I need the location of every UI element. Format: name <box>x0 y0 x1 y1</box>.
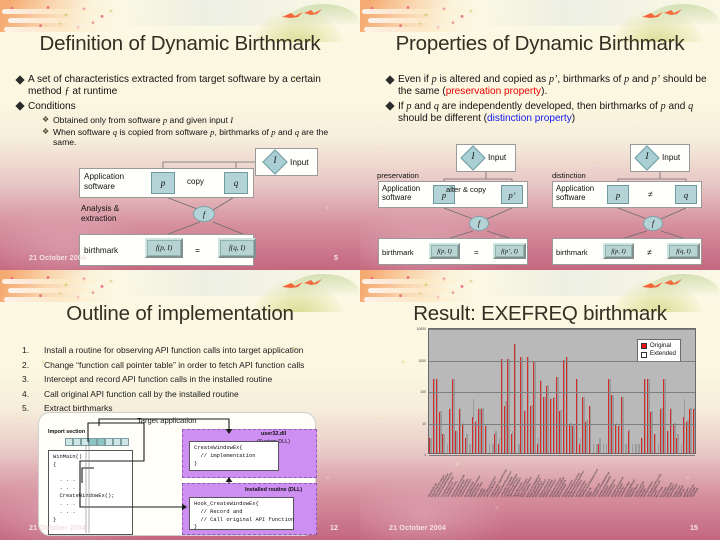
bar-extended <box>694 408 696 453</box>
chart-plot-area: Original Extended 110100100010000 <box>428 328 696 454</box>
footer-date: 21 October 2004 <box>29 253 86 262</box>
list-item: 4. Call original API function call by th… <box>22 390 348 399</box>
birthmark-label: birthmark <box>84 246 118 255</box>
legend-entry-original: Original <box>641 342 676 350</box>
application-software-label: Applicationsoftware <box>84 172 124 192</box>
api-hook-architecture-diagram: Target application Import section WinMai… <box>38 412 316 536</box>
numbered-step-list: 1. Install a routine for observing API f… <box>22 346 348 419</box>
relation-symbol: = <box>195 245 200 255</box>
f-node: f <box>469 216 489 231</box>
application-software-label: Applicationsoftware <box>556 184 594 203</box>
footer-page-number: 12 <box>330 523 338 532</box>
diagram-wires <box>540 0 720 270</box>
birthmark-left: f(p, I) <box>429 243 460 259</box>
diagram-wires <box>0 0 360 270</box>
bar-group <box>692 329 695 453</box>
node-p: p <box>607 185 629 204</box>
slide-properties-of-dynamic-birthmark: Properties of Dynamic Birthmark Even if … <box>360 0 720 270</box>
birthmark-label: birthmark <box>382 248 414 257</box>
page-title: Result: EXEFREQ birthmark <box>360 302 720 326</box>
legend-swatch-extended <box>641 352 647 358</box>
application-software-label: Applicationsoftware <box>382 184 420 203</box>
step-number: 5. <box>22 404 44 413</box>
node-q: q <box>675 185 697 204</box>
slide-definition-of-dynamic-birthmark: Definition of Dynamic Birthmark A set of… <box>0 0 360 270</box>
exefreq-bar-chart: Original Extended 110100100010000 ADVAPI… <box>380 328 708 473</box>
legend-label-extended: Extended <box>650 350 676 358</box>
chart-gridline: 10000 <box>429 329 695 330</box>
footer-page-number: 5 <box>334 253 338 262</box>
slide-outline-of-implementation: Outline of implementation 1. Install a r… <box>0 270 360 540</box>
relation-symbol: ≠ <box>647 247 652 257</box>
step-number: 2. <box>22 361 44 370</box>
chart-y-tick-label: 1000 <box>418 359 426 363</box>
birthmark-label: birthmark <box>556 248 588 257</box>
f-node: f <box>193 206 215 222</box>
chart-legend: Original Extended <box>637 339 681 362</box>
step-number: 3. <box>22 375 44 384</box>
slide-result-exefreq-birthmark: Result: EXEFREQ birthmark Original Exten… <box>360 270 720 540</box>
distinction-diagram: I Input distinction App <box>540 0 720 270</box>
chart-gridline: 1000 <box>429 361 695 362</box>
node-p-prime: p’ <box>501 185 523 204</box>
list-item: 2. Change “function call pointer table” … <box>22 361 348 370</box>
birthmark-left: f(p, I) <box>603 243 634 259</box>
footer-date: 21 October 2004 <box>29 523 86 532</box>
chart-y-tick-label: 10 <box>422 422 426 426</box>
list-item: 3. Intercept and record API function cal… <box>22 375 348 384</box>
birthmark-left: f(p, I) <box>145 238 183 258</box>
chart-y-tick-label: 1 <box>424 453 426 457</box>
birthmark-right: f(q, I) <box>667 243 700 259</box>
legend-swatch-original <box>641 343 647 349</box>
step-text: Call original API function call by the i… <box>44 390 239 399</box>
crane-icon <box>638 276 692 294</box>
footer-date: 21 October 2004 <box>389 523 446 532</box>
alter-copy-edge-label: alter & copy <box>446 185 486 194</box>
crane-icon <box>278 276 332 294</box>
page-title: Outline of implementation <box>0 302 360 326</box>
node-q: q <box>224 172 248 194</box>
node-p: p <box>151 172 175 194</box>
relation-symbol: = <box>474 248 479 257</box>
slide-grid: Definition of Dynamic Birthmark A set of… <box>0 0 720 540</box>
preservation-diagram: I Input preservation <box>360 0 540 270</box>
birthmark-right: f(q, I) <box>218 238 256 258</box>
chart-x-axis-labels: ADVAPI32.dllAdjustTokenPrivilegesAllocat… <box>428 456 696 498</box>
list-item: 1. Install a routine for observing API f… <box>22 346 348 355</box>
step-text: Install a routine for observing API func… <box>44 346 303 355</box>
birthmark-right: f(p’, I) <box>493 243 526 259</box>
step-number: 4. <box>22 390 44 399</box>
chart-y-tick-label: 100 <box>420 390 426 394</box>
diagram-wires <box>360 0 540 270</box>
legend-entry-extended: Extended <box>641 350 676 358</box>
birthmark-definition-diagram: I Input <box>0 0 360 270</box>
chart-gridline: 10 <box>429 424 695 425</box>
step-number: 1. <box>22 346 44 355</box>
copy-edge-label: copy <box>187 177 204 186</box>
analysis-extraction-label: Analysis &extraction <box>81 204 119 224</box>
footer-page-number: 15 <box>690 523 698 532</box>
chart-gridline: 100 <box>429 392 695 393</box>
legend-label-original: Original <box>650 342 671 350</box>
diagram-arrows <box>39 413 317 537</box>
row1-relation-symbol: ≠ <box>648 189 653 199</box>
step-text: Change “function call pointer table” in … <box>44 361 304 370</box>
step-text: Intercept and record API function calls … <box>44 375 272 384</box>
chart-y-tick-label: 10000 <box>417 327 426 331</box>
f-node: f <box>643 216 663 231</box>
